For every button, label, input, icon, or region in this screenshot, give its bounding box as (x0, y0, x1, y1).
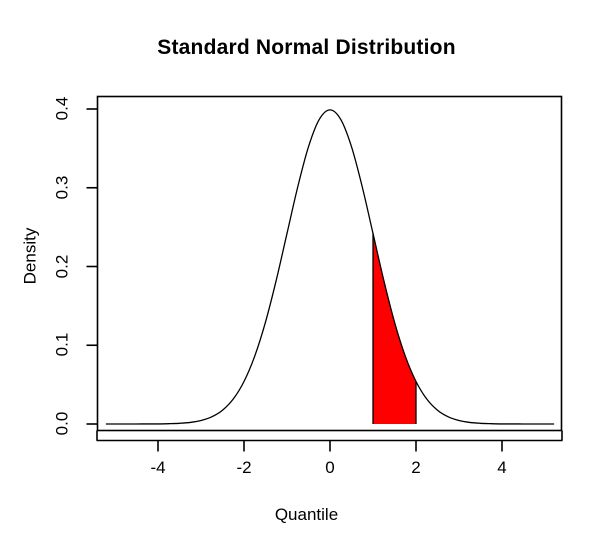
x-tick-label: 0 (310, 458, 350, 477)
y-tick-label-text: 0.4 (52, 97, 71, 121)
y-tick-label-text: 0.0 (52, 412, 71, 436)
y-tick-label: 0.1 (39, 335, 85, 355)
x-tick-label: -4 (138, 458, 178, 477)
y-tick-label-text: 0.3 (52, 175, 71, 199)
plot-frame (98, 97, 562, 431)
x-axis (97, 431, 563, 452)
density-curve (106, 110, 553, 424)
x-tick-label: 2 (396, 458, 436, 477)
y-axis-title-text: Density (17, 228, 43, 285)
y-tick-label-text: 0.2 (52, 254, 71, 278)
y-tick-label: 0.0 (39, 414, 85, 434)
y-tick-label: 0.4 (39, 99, 85, 119)
y-axis-ticks (87, 109, 98, 424)
y-tick-label: 0.2 (39, 257, 85, 277)
y-tick-label: 0.3 (39, 178, 85, 198)
x-tick-label: 4 (482, 458, 522, 477)
y-axis-title: Density (2, 243, 28, 333)
chart-plot: Standard Normal Distribution 0.00.10.20.… (0, 0, 613, 558)
x-tick-label: -2 (224, 458, 264, 477)
x-axis-title: Quantile (0, 505, 613, 525)
y-tick-label-text: 0.1 (52, 333, 71, 357)
